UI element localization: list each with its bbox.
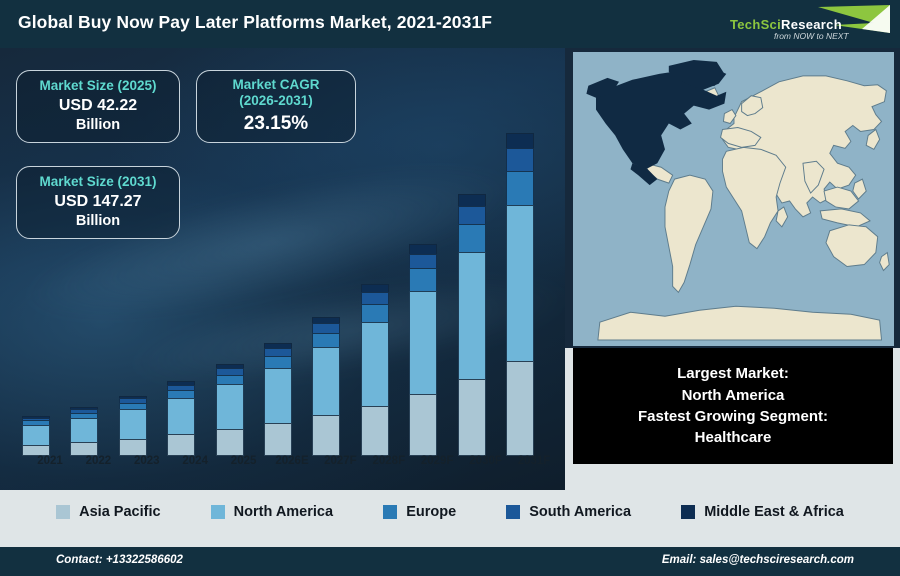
bar-segment bbox=[312, 323, 340, 333]
bar-segment bbox=[361, 292, 389, 304]
bar-segment bbox=[409, 244, 437, 254]
infographic-page: Global Buy Now Pay Later Platforms Marke… bbox=[0, 0, 900, 576]
bar-segment bbox=[216, 375, 244, 385]
bar-segment bbox=[167, 398, 195, 435]
largest-market-value: North America bbox=[682, 385, 785, 406]
fastest-segment-label: Fastest Growing Segment: bbox=[638, 406, 828, 427]
legend-item[interactable]: Asia Pacific bbox=[56, 504, 160, 520]
page-title: Global Buy Now Pay Later Platforms Marke… bbox=[18, 12, 492, 33]
bar-2023 bbox=[119, 396, 147, 456]
bar-segment bbox=[361, 304, 389, 322]
chart-panel: Market Size (2025) USD 42.22 Billion Mar… bbox=[0, 48, 565, 490]
indonesia-landmass bbox=[820, 209, 870, 227]
bar-segment bbox=[119, 439, 147, 456]
legend-item[interactable]: North America bbox=[211, 504, 333, 520]
techsci-research-logo: TechSciResearch from NOW to NEXT bbox=[722, 3, 892, 45]
bar-segment bbox=[70, 442, 98, 456]
antarctica-landmass bbox=[598, 306, 882, 340]
bar-segment bbox=[361, 322, 389, 406]
logo-text-techsci: TechSci bbox=[730, 17, 781, 32]
bar-segment bbox=[506, 171, 534, 205]
bar-segment bbox=[167, 390, 195, 398]
bar-2026E bbox=[264, 343, 292, 456]
legend-label: North America bbox=[234, 504, 333, 520]
logo-tagline: from NOW to NEXT bbox=[774, 31, 849, 41]
bar-segment bbox=[506, 361, 534, 456]
title-bar: Global Buy Now Pay Later Platforms Marke… bbox=[0, 0, 900, 48]
bar-segment bbox=[506, 205, 534, 362]
x-axis-label: 2031F bbox=[506, 455, 562, 467]
footer-bar: Contact: +13322586602 Email: sales@techs… bbox=[0, 547, 900, 576]
largest-market-label: Largest Market: bbox=[677, 363, 789, 384]
kpi-value: 23.15% bbox=[244, 112, 308, 136]
bar-segment bbox=[264, 348, 292, 356]
legend-item[interactable]: Middle East & Africa bbox=[681, 504, 844, 520]
bar-segment bbox=[409, 268, 437, 290]
bar-segment bbox=[216, 429, 244, 456]
legend-swatch-icon bbox=[211, 505, 225, 519]
bar-2028F bbox=[361, 284, 389, 456]
footer-email: Email: sales@techsciresearch.com bbox=[662, 554, 854, 566]
bar-segment bbox=[506, 133, 534, 148]
bar-2024 bbox=[167, 381, 195, 456]
australia-landmass bbox=[826, 225, 878, 267]
bar-2022 bbox=[70, 407, 98, 456]
legend-label: South America bbox=[529, 504, 631, 520]
bar-segment bbox=[506, 148, 534, 170]
legend-item[interactable]: South America bbox=[506, 504, 631, 520]
bar-segment bbox=[312, 347, 340, 415]
legend-swatch-icon bbox=[681, 505, 695, 519]
bar-segment bbox=[312, 415, 340, 456]
kpi-market-size-2025: Market Size (2025) USD 42.22 Billion bbox=[16, 70, 180, 143]
logo-text-research: Research bbox=[781, 17, 842, 32]
legend-label: Middle East & Africa bbox=[704, 504, 844, 520]
bar-segment bbox=[312, 333, 340, 348]
bar-segment bbox=[167, 434, 195, 456]
bar-2030F bbox=[458, 194, 486, 456]
kpi-label: Market Size (2031) bbox=[39, 174, 156, 190]
legend-label: Europe bbox=[406, 504, 456, 520]
bar-2021 bbox=[22, 416, 50, 456]
bar-segment bbox=[216, 384, 244, 429]
legend-label: Asia Pacific bbox=[79, 504, 160, 520]
legend-swatch-icon bbox=[383, 505, 397, 519]
kpi-sublabel: (2026-2031) bbox=[239, 93, 313, 109]
legend-swatch-icon bbox=[56, 505, 70, 519]
bar-segment bbox=[264, 368, 292, 423]
bar-segment bbox=[22, 425, 50, 445]
bar-segment bbox=[361, 284, 389, 292]
bar-segment bbox=[409, 291, 437, 394]
legend-item[interactable]: Europe bbox=[383, 504, 456, 520]
south-america-landmass bbox=[665, 175, 713, 292]
chart-legend: Asia PacificNorth AmericaEuropeSouth Ame… bbox=[0, 490, 900, 534]
kpi-market-cagr: Market CAGR (2026-2031) 23.15% bbox=[196, 70, 356, 143]
world-map-panel bbox=[565, 48, 900, 348]
new-zealand-landmass bbox=[880, 253, 890, 271]
bar-2031F bbox=[506, 133, 534, 456]
bar-segment bbox=[264, 356, 292, 368]
x-axis-labels: 202120222023202420252026E2027F2028F2029F… bbox=[0, 455, 565, 477]
bar-segment bbox=[409, 394, 437, 456]
kpi-label: Market CAGR bbox=[232, 77, 319, 93]
bar-segment bbox=[119, 409, 147, 439]
kpi-value: USD 147.27 bbox=[54, 192, 141, 212]
bar-segment bbox=[70, 418, 98, 442]
bar-segment bbox=[361, 406, 389, 456]
bar-segment bbox=[264, 423, 292, 456]
kpi-label: Market Size (2025) bbox=[39, 78, 156, 94]
kpi-value: USD 42.22 bbox=[59, 96, 137, 116]
bar-segment bbox=[458, 194, 486, 206]
fastest-segment-value: Healthcare bbox=[695, 427, 772, 448]
bar-segment bbox=[409, 254, 437, 269]
bar-2029F bbox=[409, 244, 437, 456]
logo-wordmark: TechSciResearch bbox=[730, 17, 842, 32]
bar-2025 bbox=[216, 364, 244, 456]
bar-segment bbox=[458, 252, 486, 379]
footer-contact: Contact: +13322586602 bbox=[56, 554, 183, 566]
africa-landmass bbox=[722, 147, 785, 248]
kpi-market-size-2031: Market Size (2031) USD 147.27 Billion bbox=[16, 166, 180, 239]
kpi-unit: Billion bbox=[76, 116, 120, 134]
legend-swatch-icon bbox=[506, 505, 520, 519]
world-map bbox=[573, 52, 894, 346]
bar-2027F bbox=[312, 317, 340, 456]
kpi-unit: Billion bbox=[76, 212, 120, 230]
bar-segment bbox=[458, 224, 486, 252]
bar-segment bbox=[458, 206, 486, 224]
bar-segment bbox=[458, 379, 486, 456]
market-highlight-box: Largest Market: North America Fastest Gr… bbox=[573, 348, 893, 464]
japan-landmass bbox=[866, 129, 879, 149]
